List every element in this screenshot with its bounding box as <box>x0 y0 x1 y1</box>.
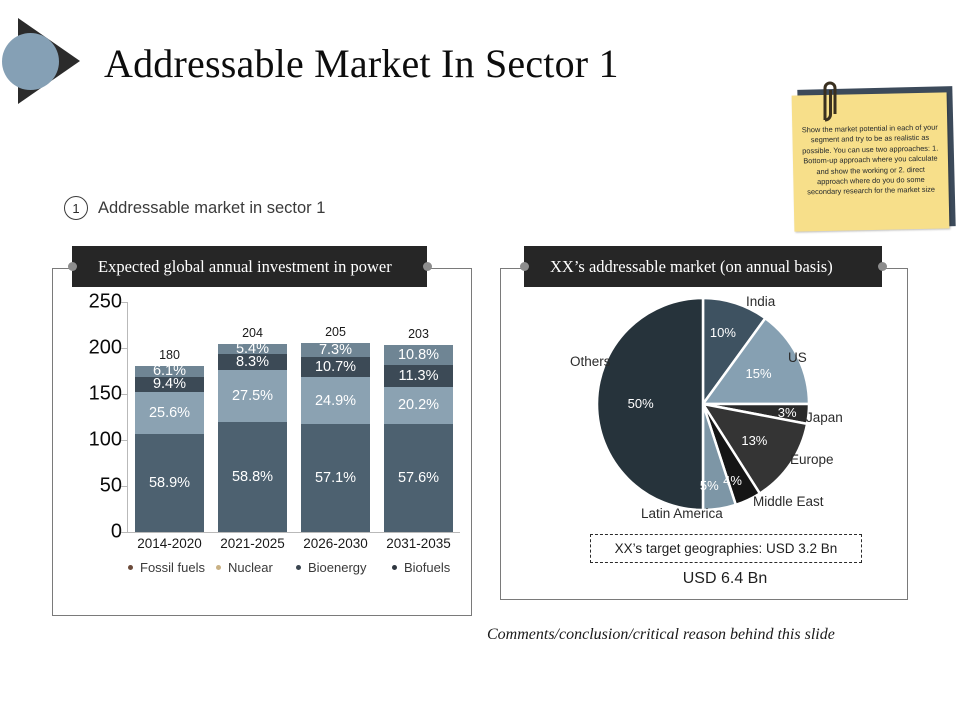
bar-segment: 25.6% <box>135 392 204 434</box>
bar-chart-y-tick-label: 150 <box>62 383 122 406</box>
legend-label: Fossil fuels <box>140 560 205 575</box>
bar-chart-x-label: 2026-2030 <box>296 536 376 551</box>
section-label: 1 Addressable market in sector 1 <box>64 196 325 220</box>
bar-segment-label: 10.7% <box>301 359 370 375</box>
bar-chart-y-tick-label: 200 <box>62 337 122 360</box>
bar-stack: 7.3%10.7%24.9%57.1%205 <box>301 343 370 532</box>
bar-segment: 10.8% <box>384 345 453 365</box>
pie-label-others: Others <box>570 354 611 369</box>
legend-item-nuclear[interactable]: Nuclear <box>216 560 273 575</box>
sticky-note-text: Show the market potential in each of you… <box>800 123 940 199</box>
bar-segment: 7.3% <box>301 343 370 357</box>
bar-segment-label: 7.3% <box>301 342 370 358</box>
bar-segment-label: 10.8% <box>384 347 453 363</box>
bar-segment: 9.4% <box>135 377 204 393</box>
target-geographies-box: XX’s target geographies: USD 3.2 Bn <box>590 534 862 563</box>
bar-chart-y-tick-label: 0 <box>62 521 122 544</box>
circle-decoration-icon <box>2 33 59 90</box>
legend-item-bioenergy[interactable]: Bioenergy <box>296 560 367 575</box>
pie-label-europe: Europe <box>790 452 834 467</box>
bar-chart-y-axis: 050100150200250 <box>62 288 122 532</box>
pie-slice-value-others: 50% <box>628 396 654 411</box>
bar-total-label: 204 <box>218 326 287 340</box>
bar-chart-y-tick <box>121 302 128 303</box>
bar-segment: 5.4% <box>218 344 287 354</box>
pie-slice-value-middle-east: 4% <box>723 473 742 488</box>
bar-segment: 10.7% <box>301 357 370 377</box>
left-header-dot-end <box>423 262 432 271</box>
left-panel-header-text: Expected global annual investment in pow… <box>72 257 392 277</box>
right-header-dot-end <box>878 262 887 271</box>
pie-label-india: India <box>746 294 775 309</box>
section-number-badge: 1 <box>64 196 88 220</box>
pie-label-us: US <box>788 350 807 365</box>
pie-slice-value-india: 10% <box>710 325 736 340</box>
bar-chart-y-tick <box>121 394 128 395</box>
paperclip-icon <box>822 78 838 122</box>
left-header-dot-start <box>68 262 77 271</box>
bar-segment-label: 8.3% <box>218 354 287 370</box>
bar-segment-label: 24.9% <box>301 393 370 409</box>
bar-segment-label: 58.9% <box>135 475 204 491</box>
legend-item-biofuels[interactable]: Biofuels <box>392 560 450 575</box>
pie-slice-value-us: 15% <box>746 366 772 381</box>
pie-slice-value-europe: 13% <box>741 433 767 448</box>
bar-chart-plot-area: 6.1%9.4%25.6%58.9%1805.4%8.3%27.5%58.8%2… <box>128 302 460 532</box>
sticky-note[interactable]: Show the market potential in each of you… <box>793 88 956 231</box>
right-panel-header-text: XX’s addressable market (on annual basis… <box>524 257 833 277</box>
pie-label-japan: Japan <box>806 410 843 425</box>
bar-chart-y-tick <box>121 486 128 487</box>
bar-chart-x-axis-line <box>127 532 460 533</box>
pie-label-middle-east: Middle East <box>753 494 824 509</box>
bar-total-label: 203 <box>384 327 453 341</box>
bar-stack: 6.1%9.4%25.6%58.9%180 <box>135 366 204 532</box>
legend-marker-icon <box>128 565 133 570</box>
bar-chart-y-tick <box>121 440 128 441</box>
legend-marker-icon <box>216 565 221 570</box>
bar-chart-legend: Fossil fuelsNuclearBioenergyBiofuels <box>128 560 508 582</box>
bar-segment-label: 11.3% <box>384 368 453 384</box>
bar-segment: 57.1% <box>301 424 370 532</box>
legend-marker-icon <box>296 565 301 570</box>
bar-segment-label: 58.8% <box>218 469 287 485</box>
bar-segment: 20.2% <box>384 387 453 425</box>
legend-label: Nuclear <box>228 560 273 575</box>
right-panel-header: XX’s addressable market (on annual basis… <box>524 246 882 287</box>
bar-stack: 5.4%8.3%27.5%58.8%204 <box>218 344 287 532</box>
page-title: Addressable Market In Sector 1 <box>104 40 824 87</box>
bar-segment-label: 20.2% <box>384 397 453 413</box>
legend-item-fossil-fuels[interactable]: Fossil fuels <box>128 560 205 575</box>
legend-label: Biofuels <box>404 560 450 575</box>
bar-chart-x-label: 2031-2035 <box>379 536 459 551</box>
bar-chart-y-tick-label: 100 <box>62 429 122 452</box>
bar-segment: 57.6% <box>384 424 453 532</box>
bar-total-label: 205 <box>301 325 370 339</box>
bar-segment-label: 9.4% <box>135 376 204 392</box>
bar-chart-x-label: 2014-2020 <box>130 536 210 551</box>
pie-slice-value-japan: 3% <box>778 405 797 420</box>
slide-canvas: Addressable Market In Sector 1 Show the … <box>0 0 960 720</box>
bar-segment: 8.3% <box>218 354 287 370</box>
addressable-market-total: USD 6.4 Bn <box>590 570 860 588</box>
bar-segment-label: 57.1% <box>301 470 370 486</box>
pie-label-latin-america: Latin America <box>641 506 723 521</box>
pie-slice-value-latin-america: 5% <box>700 478 719 493</box>
bar-total-label: 180 <box>135 348 204 362</box>
legend-marker-icon <box>392 565 397 570</box>
bar-chart: 050100150200250 6.1%9.4%25.6%58.9%1805.4… <box>52 288 470 588</box>
legend-label: Bioenergy <box>308 560 367 575</box>
bar-segment-label: 25.6% <box>135 405 204 421</box>
bar-chart-y-tick-label: 50 <box>62 475 122 498</box>
pie-chart: XX’s target geographies: USD 3.2 Bn USD … <box>500 288 906 598</box>
bar-segment: 58.8% <box>218 422 287 532</box>
bar-segment: 24.9% <box>301 377 370 424</box>
bar-stack: 10.8%11.3%20.2%57.6%203 <box>384 345 453 532</box>
bar-segment: 58.9% <box>135 434 204 532</box>
bar-chart-y-tick-label: 250 <box>62 291 122 314</box>
bar-segment: 27.5% <box>218 370 287 422</box>
sticky-note-paper: Show the market potential in each of you… <box>792 92 950 231</box>
footer-comment: Comments/conclusion/critical reason behi… <box>487 626 835 644</box>
bar-chart-x-labels: 2014-20202021-20252026-20302031-2035 <box>128 536 460 558</box>
bar-segment-label: 27.5% <box>218 388 287 404</box>
bar-chart-y-tick <box>121 532 128 533</box>
bar-chart-x-label: 2021-2025 <box>213 536 293 551</box>
bar-segment-label: 57.6% <box>384 470 453 486</box>
right-header-dot-start <box>520 262 529 271</box>
section-title: Addressable market in sector 1 <box>98 199 325 218</box>
bar-segment: 11.3% <box>384 365 453 386</box>
bar-segment: 6.1% <box>135 366 204 376</box>
bar-chart-y-tick <box>121 348 128 349</box>
left-panel-header: Expected global annual investment in pow… <box>72 246 427 287</box>
